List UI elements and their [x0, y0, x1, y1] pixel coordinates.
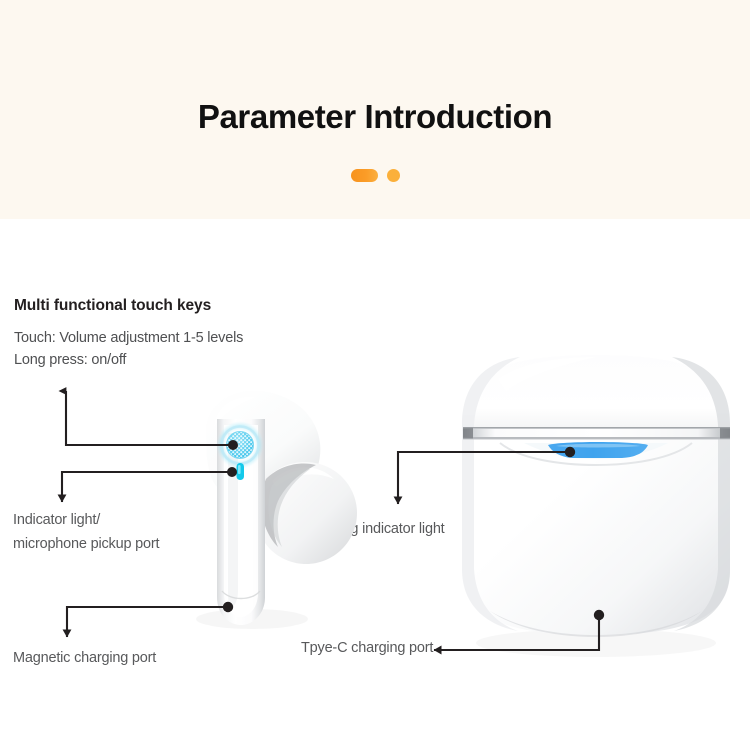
earbud-nozzle [256, 462, 357, 564]
product-illustration [0, 219, 750, 750]
wireless-earbud [196, 391, 357, 629]
case-hinge [463, 427, 730, 439]
indicator-light-leader [62, 467, 237, 502]
page-title: Parameter Introduction [0, 98, 750, 136]
slide-indicator-inactive-dot[interactable] [387, 169, 400, 182]
slide-indicator-active-dot[interactable] [351, 169, 378, 182]
slide-indicator [0, 169, 750, 182]
